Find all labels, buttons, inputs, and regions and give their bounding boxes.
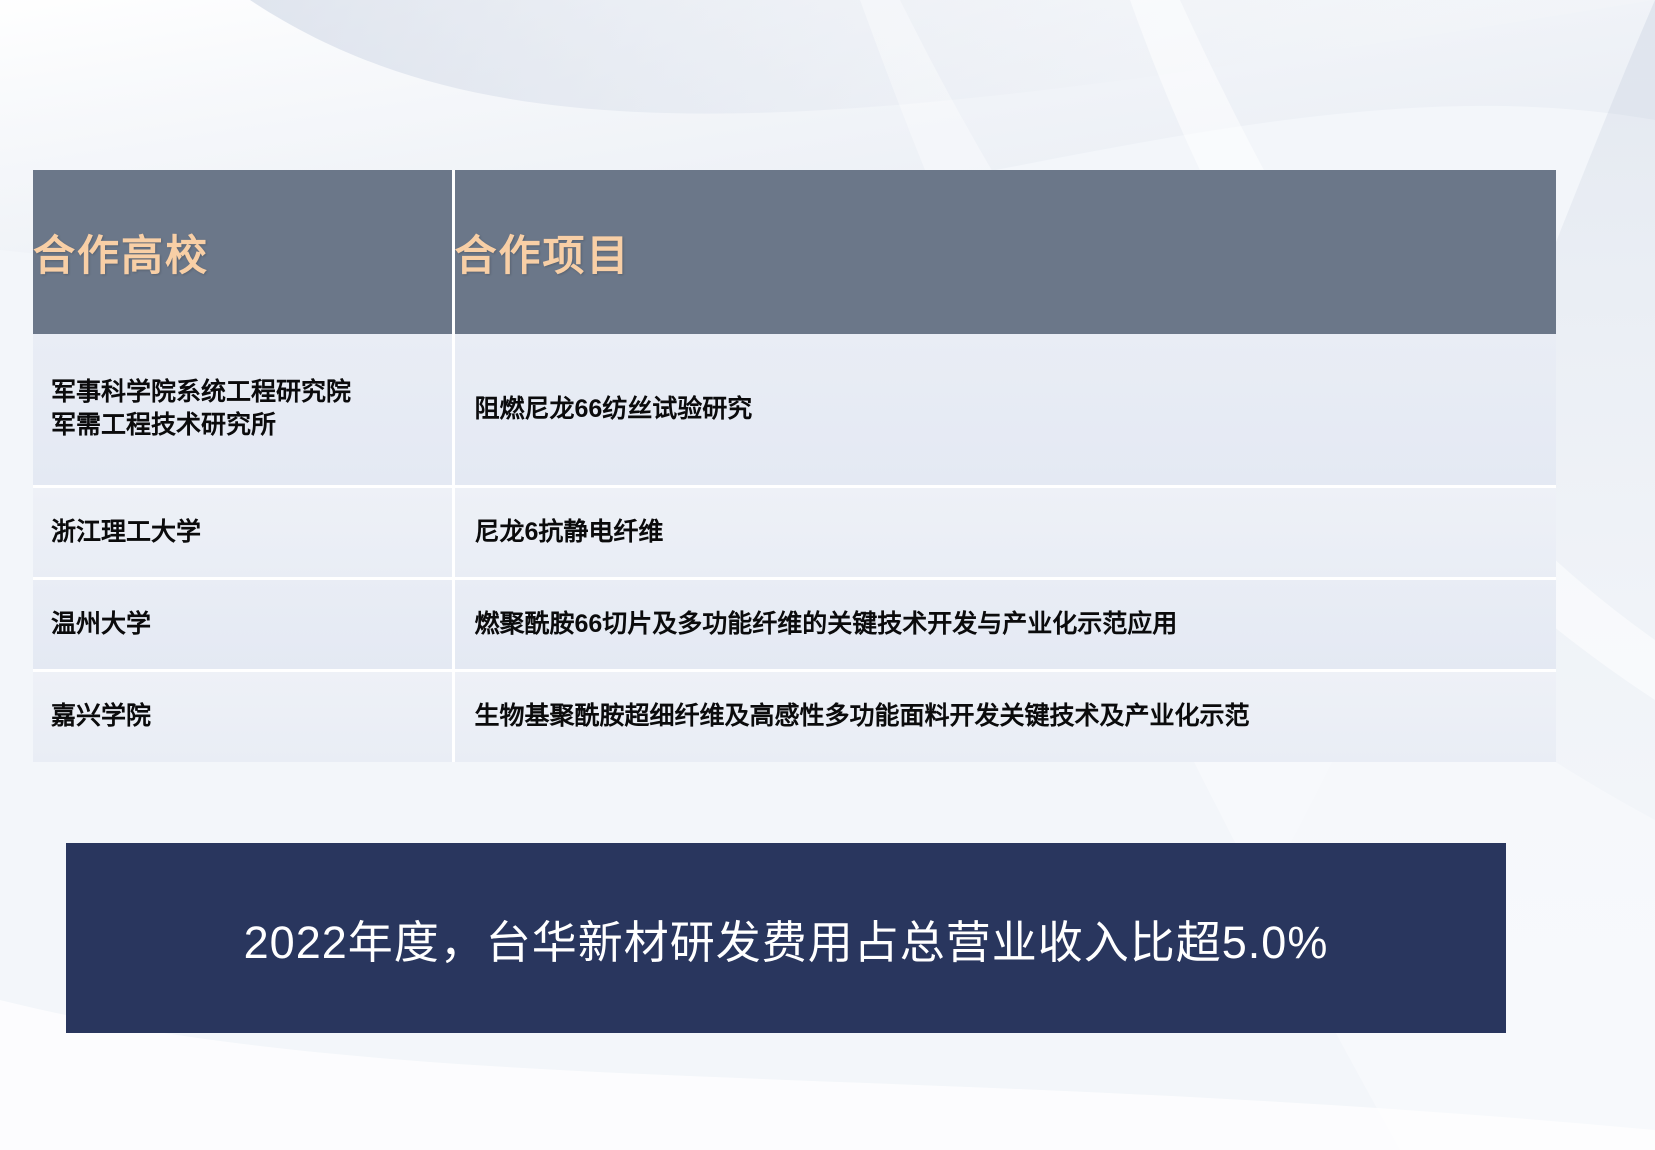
table-header-row: 合作高校 合作项目 bbox=[33, 170, 1556, 334]
cell-university: 温州大学 bbox=[33, 578, 453, 670]
table-row: 嘉兴学院 生物基聚酰胺超细纤维及高感性多功能面料开发关键技术及产业化示范 bbox=[33, 670, 1556, 762]
cell-project: 阻燃尼龙66纺丝试验研究 bbox=[453, 334, 1556, 486]
cell-project: 燃聚酰胺66切片及多功能纤维的关键技术开发与产业化示范应用 bbox=[453, 578, 1556, 670]
university-name-line-1: 温州大学 bbox=[51, 608, 434, 641]
cell-project: 生物基聚酰胺超细纤维及高感性多功能面料开发关键技术及产业化示范 bbox=[453, 670, 1556, 762]
cell-university: 嘉兴学院 bbox=[33, 670, 453, 762]
university-name-line-1: 军事科学院系统工程研究院 bbox=[51, 376, 434, 409]
cell-project: 尼龙6抗静电纤维 bbox=[453, 486, 1556, 578]
summary-banner: 2022年度，台华新材研发费用占总营业收入比超5.0% bbox=[66, 843, 1506, 1033]
cooperation-table: 合作高校 合作项目 军事科学院系统工程研究院 军需工程技术研究所 阻燃尼龙66纺… bbox=[33, 170, 1556, 762]
table-header: 合作高校 合作项目 bbox=[33, 170, 1556, 334]
column-header-university: 合作高校 bbox=[33, 170, 453, 334]
university-name-line-1: 嘉兴学院 bbox=[51, 700, 434, 733]
table-body: 军事科学院系统工程研究院 军需工程技术研究所 阻燃尼龙66纺丝试验研究 浙江理工… bbox=[33, 334, 1556, 762]
summary-banner-text: 2022年度，台华新材研发费用占总营业收入比超5.0% bbox=[244, 906, 1329, 971]
university-name-line-1: 浙江理工大学 bbox=[51, 516, 434, 549]
table-row: 军事科学院系统工程研究院 军需工程技术研究所 阻燃尼龙66纺丝试验研究 bbox=[33, 334, 1556, 486]
table-row: 浙江理工大学 尼龙6抗静电纤维 bbox=[33, 486, 1556, 578]
cell-university: 军事科学院系统工程研究院 军需工程技术研究所 bbox=[33, 334, 453, 486]
column-header-project: 合作项目 bbox=[453, 170, 1556, 334]
slide-root: 合作高校 合作项目 军事科学院系统工程研究院 军需工程技术研究所 阻燃尼龙66纺… bbox=[0, 0, 1655, 1150]
cell-university: 浙江理工大学 bbox=[33, 486, 453, 578]
university-name-line-2: 军需工程技术研究所 bbox=[51, 409, 434, 442]
table-row: 温州大学 燃聚酰胺66切片及多功能纤维的关键技术开发与产业化示范应用 bbox=[33, 578, 1556, 670]
